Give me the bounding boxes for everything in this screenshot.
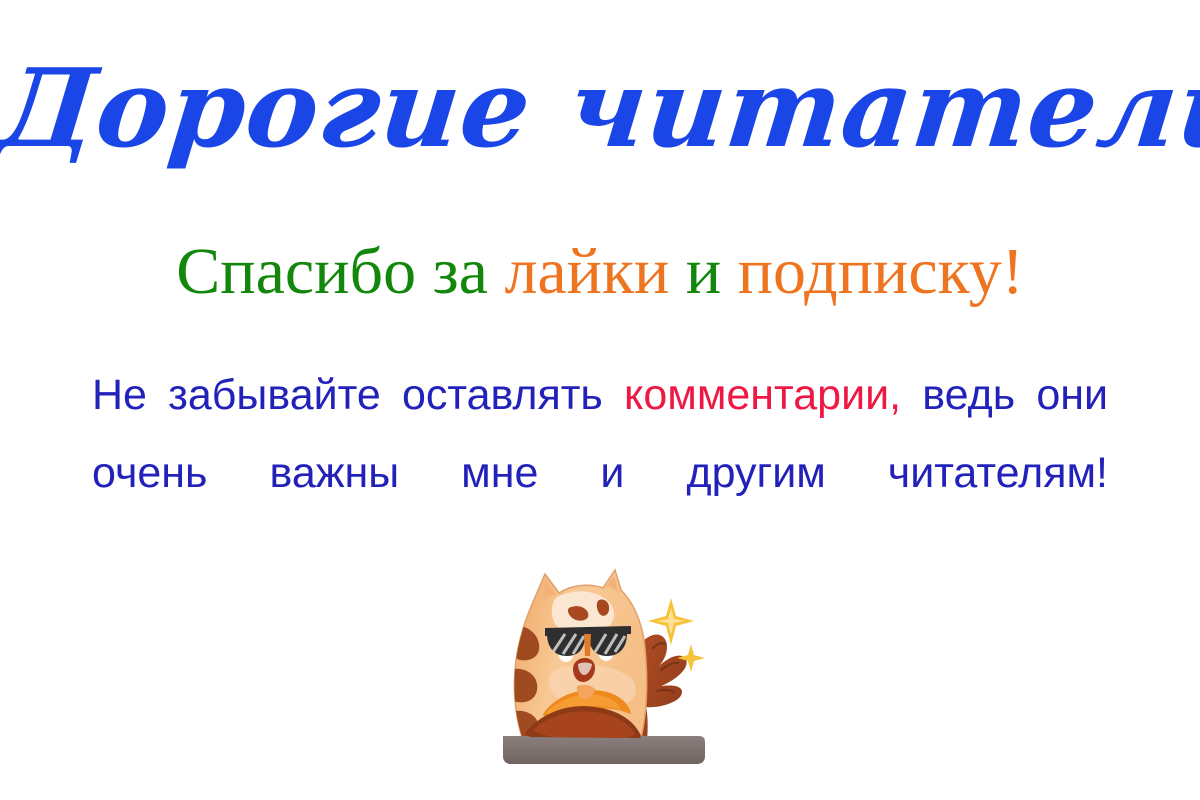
- sunglasses-icon: [545, 626, 631, 656]
- subtitle: Спасибо за лайки и подписку!: [0, 236, 1200, 309]
- surface-bar: [503, 736, 705, 764]
- subtitle-part-thanks: Спасибо за: [176, 235, 504, 308]
- subtitle-part-subscribe: подписку!: [738, 235, 1024, 308]
- body-text-blue-first: Не забывайте оставлять: [92, 371, 624, 419]
- poster-canvas: Дорогие читатели Спасибо за лайки и подп…: [0, 0, 1200, 800]
- cool-cat-sticker: [485, 552, 715, 767]
- subtitle-part-likes: лайки: [504, 235, 669, 308]
- subtitle-part-and: и: [669, 235, 737, 308]
- body-text-comments-highlight: комментарии,: [624, 371, 901, 419]
- page-title: Дорогие читатели: [0, 46, 1200, 173]
